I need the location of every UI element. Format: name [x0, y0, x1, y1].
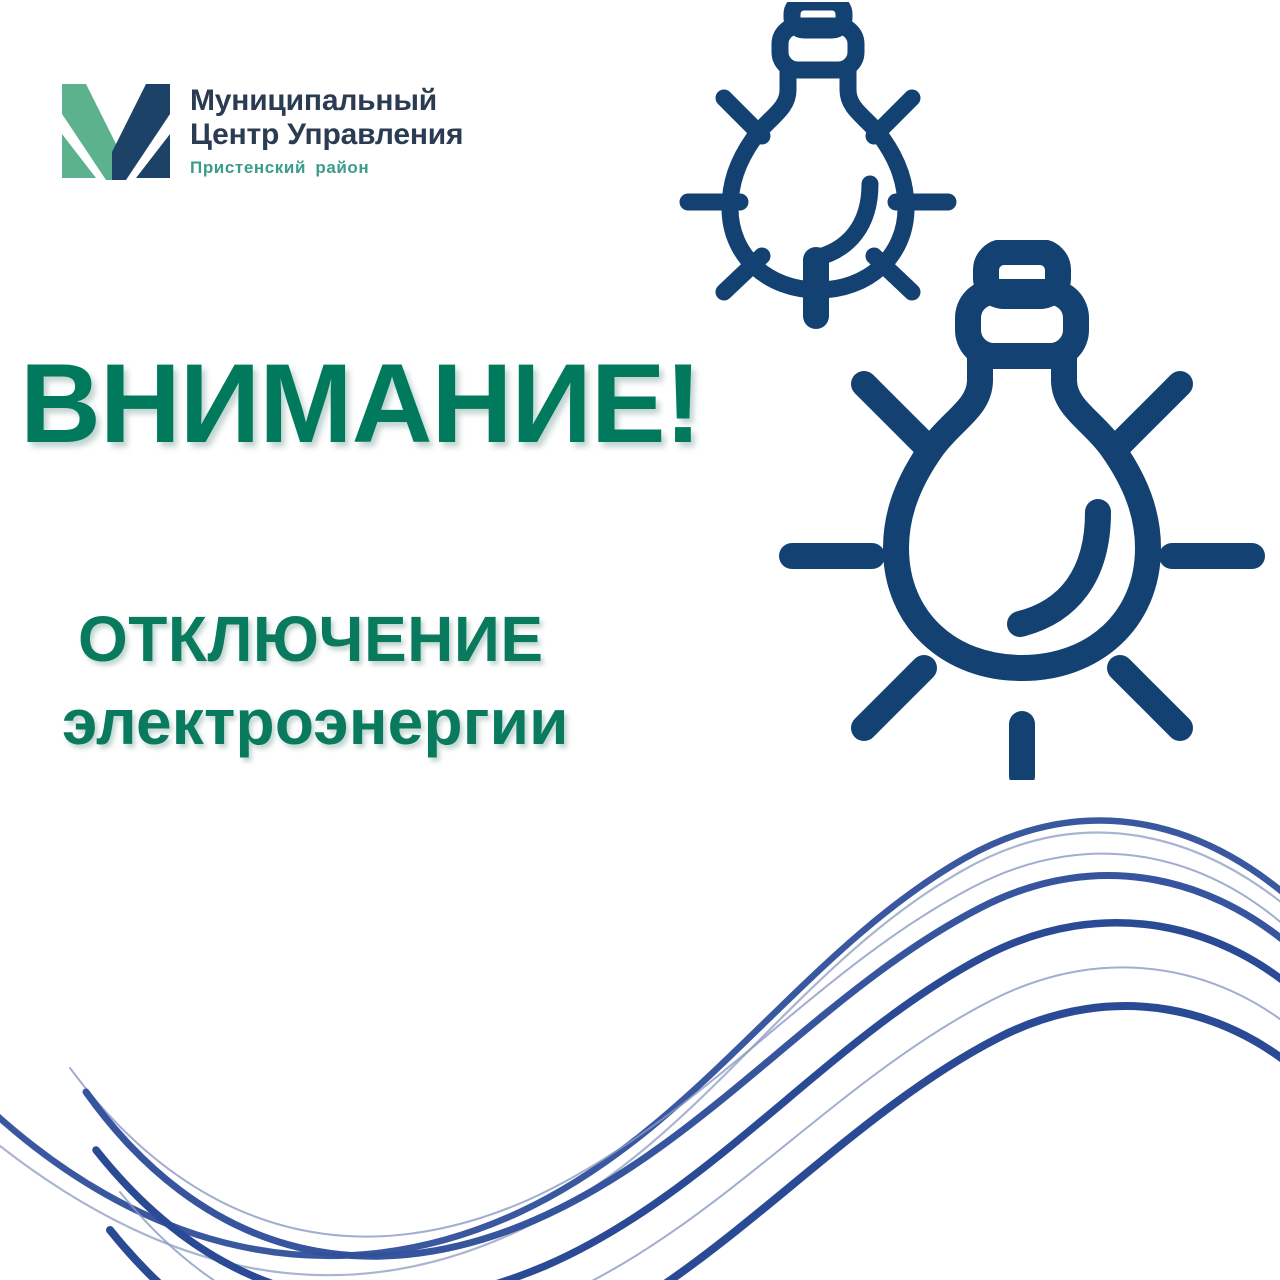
- wave-ribbon-decoration: [0, 800, 1280, 1280]
- mcu-chevron-mark-icon: [58, 78, 174, 182]
- logo-subtitle-district: Пристенский район: [190, 158, 463, 178]
- organization-logo: Муниципальный Центр Управления Пристенск…: [58, 78, 463, 182]
- subheadline-line-1: ОТКЛЮЧЕНИЕ: [78, 607, 544, 671]
- logo-title-line-1: Муниципальный: [190, 84, 463, 118]
- logo-wordmark: Муниципальный Центр Управления Пристенск…: [190, 78, 463, 178]
- headline-attention: ВНИМАНИЕ!: [20, 348, 701, 460]
- logo-title-line-2: Центр Управления: [190, 118, 463, 152]
- poster-canvas: Муниципальный Центр Управления Пристенск…: [0, 0, 1280, 1280]
- subheadline-line-2: электроэнергии: [62, 690, 569, 754]
- light-bulb-icon-large: [772, 240, 1272, 780]
